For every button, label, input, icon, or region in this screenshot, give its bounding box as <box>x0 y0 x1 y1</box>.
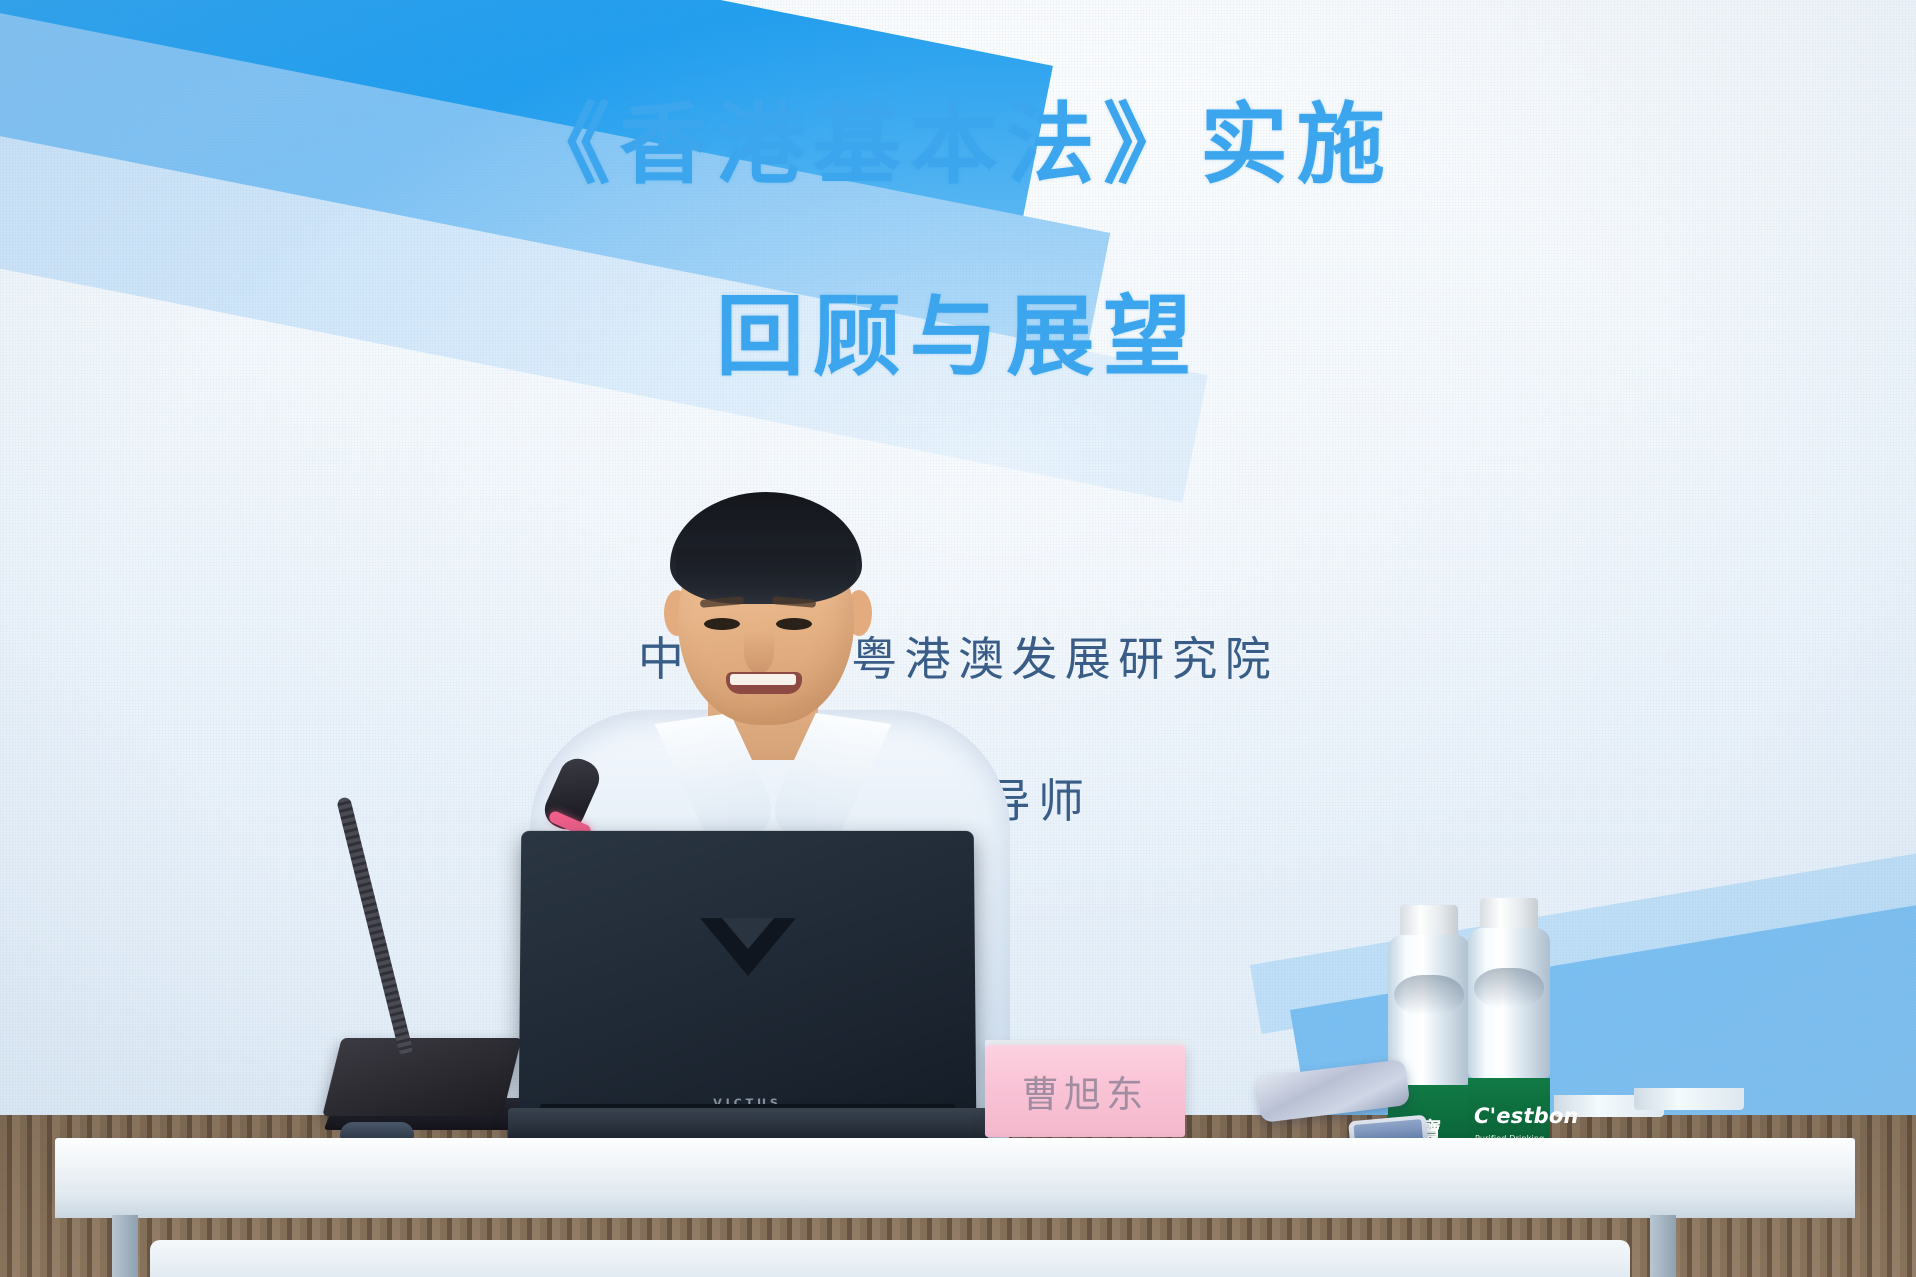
conference-table-top <box>55 1138 1855 1196</box>
speaker-hair <box>670 492 862 604</box>
slide-title-line2: 回顾与展望 <box>0 280 1916 394</box>
face-region <box>678 510 679 511</box>
speaker-nameplate: 曹旭东 <box>985 1045 1185 1137</box>
teeth <box>730 674 796 685</box>
eye-left <box>704 618 740 630</box>
mouth-smiling <box>726 672 802 694</box>
eye-right <box>776 618 812 630</box>
nameplate-name: 曹旭东 <box>1022 1064 1149 1118</box>
laptop-lid: VICTUS <box>519 831 977 1116</box>
laptop-base-keyboard[interactable] <box>508 1108 988 1142</box>
slide-title-line1: 《香港基本法》实施 <box>0 88 1916 202</box>
bottle-body-right <box>1468 928 1550 1078</box>
microphone-base <box>322 1038 521 1116</box>
bottle-brand-en-right: C'estbon <box>1474 1104 1579 1128</box>
nose <box>744 630 774 674</box>
photo-scene: 《香港基本法》实施 回顾与展望 中山大学粤港澳发展研究院 博士生导师 <box>0 0 1916 1277</box>
table-leg-right <box>1650 1215 1676 1277</box>
table-modesty-panel <box>150 1240 1630 1277</box>
bottle-cap-left <box>1400 905 1458 935</box>
conference-table-edge <box>55 1190 1855 1218</box>
bottle-cap-right <box>1480 898 1538 928</box>
victus-chevron-logo-inner-icon <box>722 918 774 949</box>
bottle-neck-right <box>1634 1088 1744 1110</box>
table-leg-left <box>112 1215 138 1277</box>
